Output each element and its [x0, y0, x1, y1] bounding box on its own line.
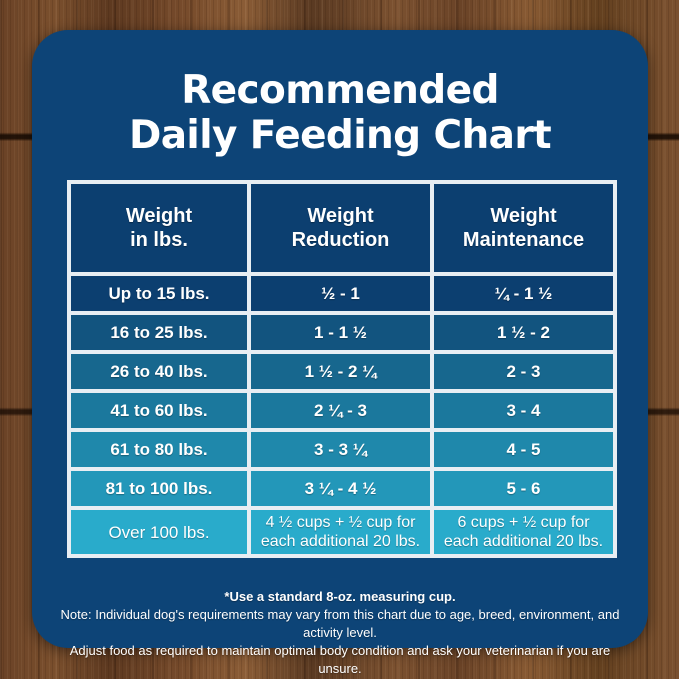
cell-weight-maintenance: 2 - 3: [432, 352, 615, 391]
table-header-row: Weight in lbs. Weight Reduction Weight M…: [69, 182, 615, 274]
feeding-table: Weight in lbs. Weight Reduction Weight M…: [67, 180, 617, 558]
table-row: 41 to 60 lbs. 2 ¼ - 3 3 - 4: [69, 391, 615, 430]
cell-weight-maintenance: 6 cups + ½ cup for each additional 20 lb…: [432, 508, 615, 556]
cell-weight-reduction: 3 - 3 ¼: [249, 430, 432, 469]
footnote-measuring-cup: *Use a standard 8-oz. measuring cup.: [50, 588, 630, 606]
cell-weight-reduction: ½ - 1: [249, 274, 432, 313]
cell-weight-reduction: 4 ½ cups + ½ cup for each additional 20 …: [249, 508, 432, 556]
column-header-maintenance-line-1: Weight: [434, 204, 613, 228]
footnotes: *Use a standard 8-oz. measuring cup. Not…: [50, 588, 630, 678]
page-title: Recommended Daily Feeding Chart: [32, 68, 648, 158]
cell-weight: 16 to 25 lbs.: [69, 313, 249, 352]
cell-weight-reduction: 1 - 1 ½: [249, 313, 432, 352]
column-header-weight-line-2: in lbs.: [71, 228, 247, 252]
table-row: Over 100 lbs. 4 ½ cups + ½ cup for each …: [69, 508, 615, 556]
page-title-line-1: Recommended: [32, 68, 648, 113]
cell-maintenance-line-1: 6 cups + ½ cup for: [434, 513, 613, 532]
cell-weight-maintenance: 1 ½ - 2: [432, 313, 615, 352]
table-row: 26 to 40 lbs. 1 ½ - 2 ¼ 2 - 3: [69, 352, 615, 391]
cell-weight: 41 to 60 lbs.: [69, 391, 249, 430]
column-header-weight-line-1: Weight: [71, 204, 247, 228]
cell-weight-maintenance: ¼ - 1 ½: [432, 274, 615, 313]
cell-weight: 81 to 100 lbs.: [69, 469, 249, 508]
cell-weight-reduction: 1 ½ - 2 ¼: [249, 352, 432, 391]
cell-reduction-line-1: 4 ½ cups + ½ cup for: [251, 513, 430, 532]
column-header-weight-maintenance: Weight Maintenance: [432, 182, 615, 274]
cell-weight-maintenance: 4 - 5: [432, 430, 615, 469]
column-header-maintenance-line-2: Maintenance: [434, 228, 613, 252]
page-title-line-2: Daily Feeding Chart: [32, 113, 648, 158]
cell-weight-maintenance: 5 - 6: [432, 469, 615, 508]
footnote-note-line-2: Adjust food as required to maintain opti…: [50, 642, 630, 678]
cell-weight: 61 to 80 lbs.: [69, 430, 249, 469]
cell-maintenance-line-2: each additional 20 lbs.: [434, 532, 613, 551]
table-row: 81 to 100 lbs. 3 ¼ - 4 ½ 5 - 6: [69, 469, 615, 508]
cell-weight: 26 to 40 lbs.: [69, 352, 249, 391]
cell-weight-reduction: 2 ¼ - 3: [249, 391, 432, 430]
column-header-reduction-line-2: Reduction: [251, 228, 430, 252]
table-row: 16 to 25 lbs. 1 - 1 ½ 1 ½ - 2: [69, 313, 615, 352]
column-header-weight: Weight in lbs.: [69, 182, 249, 274]
footnote-note-line-1: Note: Individual dog's requirements may …: [50, 606, 630, 642]
column-header-weight-reduction: Weight Reduction: [249, 182, 432, 274]
cell-weight-maintenance: 3 - 4: [432, 391, 615, 430]
cell-weight: Up to 15 lbs.: [69, 274, 249, 313]
cell-weight-reduction: 3 ¼ - 4 ½: [249, 469, 432, 508]
feeding-chart-card: Recommended Daily Feeding Chart Weight i…: [32, 30, 648, 648]
table-row: Up to 15 lbs. ½ - 1 ¼ - 1 ½: [69, 274, 615, 313]
table-row: 61 to 80 lbs. 3 - 3 ¼ 4 - 5: [69, 430, 615, 469]
cell-reduction-line-2: each additional 20 lbs.: [251, 532, 430, 551]
column-header-reduction-line-1: Weight: [251, 204, 430, 228]
cell-weight: Over 100 lbs.: [69, 508, 249, 556]
